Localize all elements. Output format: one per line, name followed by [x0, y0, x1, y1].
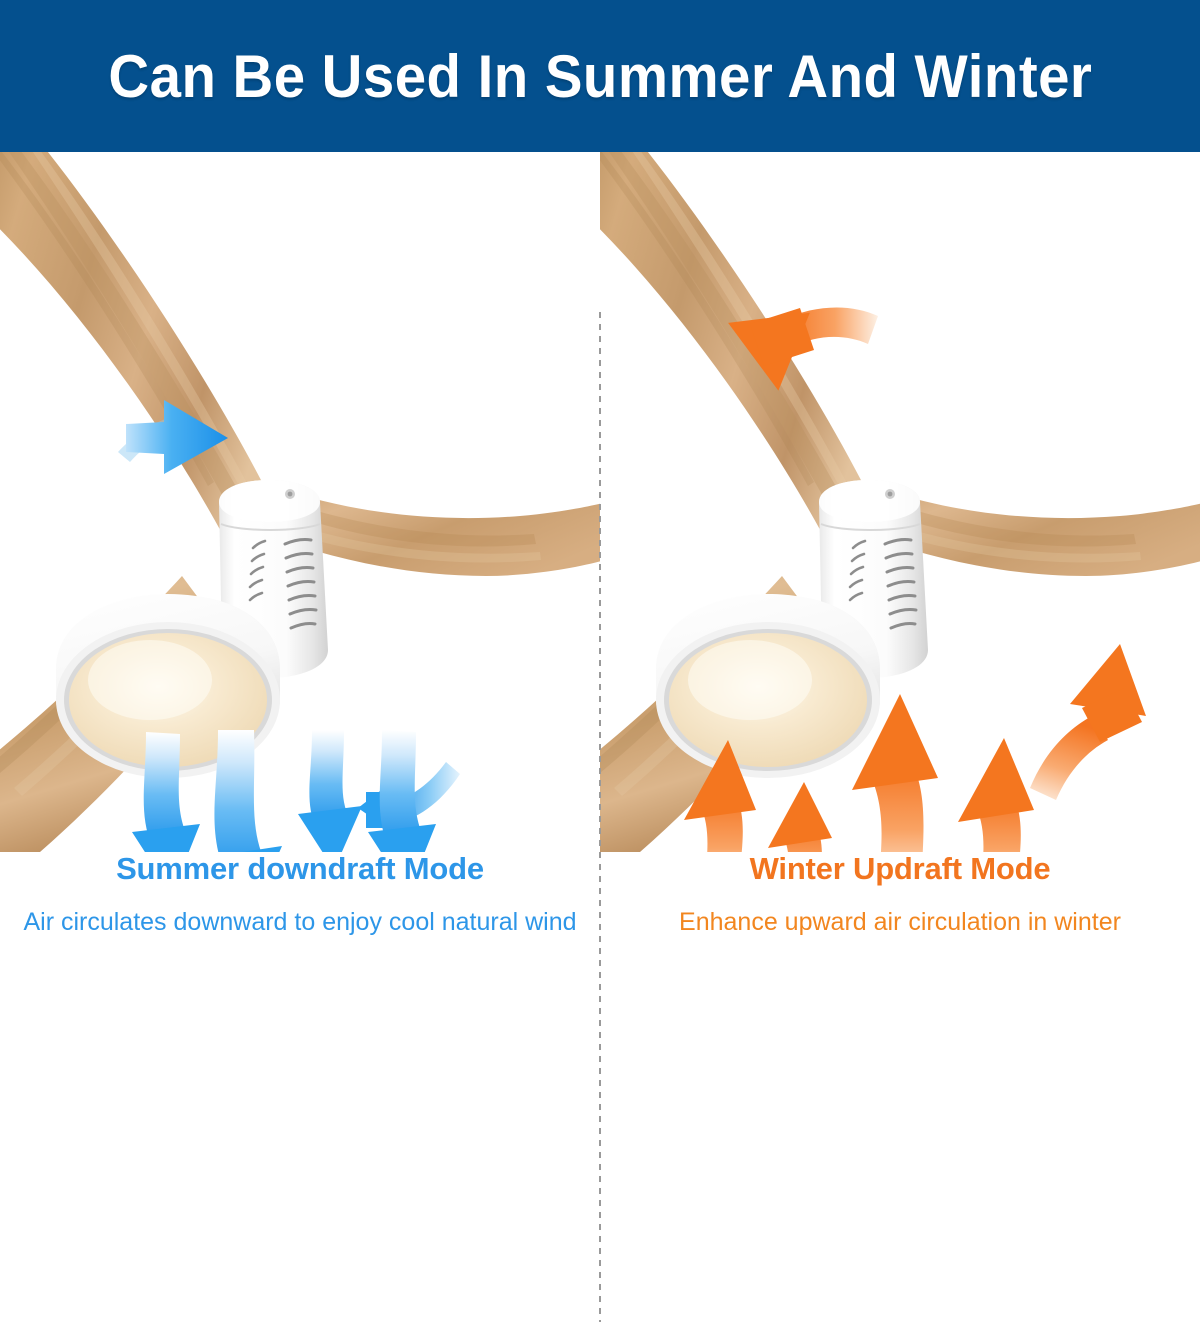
airflow-arrow: [958, 738, 1034, 852]
caption-summer: Summer downdraft Mode Air circulates dow…: [0, 852, 600, 939]
panel-divider: [599, 312, 601, 1322]
mode-subtitle-summer: Air circulates downward to enjoy cool na…: [0, 906, 600, 939]
airflow-arrow: [768, 782, 832, 852]
airflow-arrow: [298, 730, 362, 852]
fan-illustration-summer: [0, 152, 600, 852]
panel-summer-downdraft: Summer downdraft Mode Air circulates dow…: [0, 152, 600, 1200]
mode-subtitle-winter: Enhance upward air circulation in winter: [600, 906, 1200, 939]
page-title: Can Be Used In Summer And Winter: [108, 42, 1092, 111]
mode-title-winter: Winter Updraft Mode: [600, 852, 1200, 886]
mode-title-summer: Summer downdraft Mode: [0, 852, 600, 886]
comparison-stage: Summer downdraft Mode Air circulates dow…: [0, 152, 1200, 1200]
rotation-arrow-right: [1030, 644, 1146, 800]
airflow-arrows-down: [132, 730, 436, 852]
caption-winter: Winter Updraft Mode Enhance upward air c…: [600, 852, 1200, 939]
panel-winter-updraft: Winter Updraft Mode Enhance upward air c…: [600, 152, 1200, 1200]
header-banner: Can Be Used In Summer And Winter: [0, 0, 1200, 152]
fan-illustration-winter: [600, 152, 1200, 852]
